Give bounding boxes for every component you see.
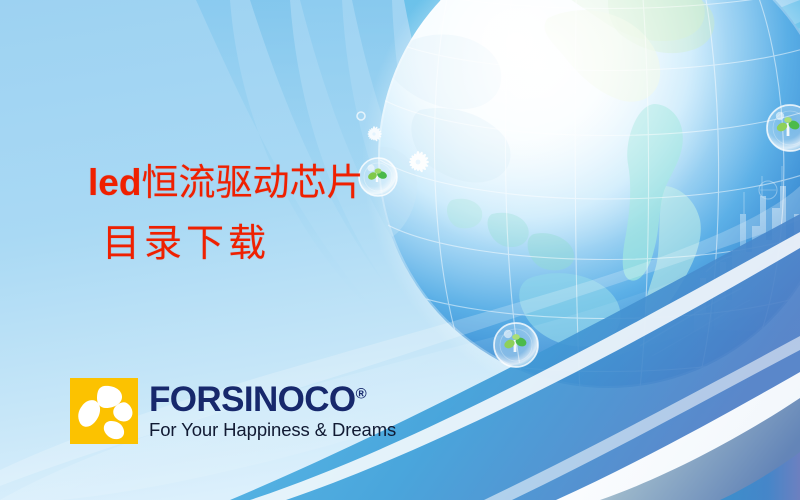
logo-tagline: For Your Happiness & Dreams (149, 421, 396, 440)
bubble-leaf-lower (494, 323, 538, 367)
logo-mark-icon (70, 378, 138, 444)
title-line-2: 目录下载 (102, 224, 363, 262)
logo-wordmark-text: FORSINOCO (149, 380, 356, 419)
title-han-text: 恒流驱动芯片 (141, 161, 363, 204)
bubble-leaf-center (359, 158, 397, 196)
title-latin-text: led (88, 162, 141, 203)
registered-trademark-symbol: ® (356, 386, 366, 403)
logo-text-block: FORSINOCO® For Your Happiness & Dreams (149, 382, 396, 440)
banner-title: led恒流驱动芯片 目录下载 (88, 164, 363, 262)
title-line-1: led恒流驱动芯片 (88, 164, 363, 201)
logo-wordmark: FORSINOCO® (149, 382, 396, 417)
company-logo[interactable]: FORSINOCO® For Your Happiness & Dreams (70, 378, 396, 444)
banner-canvas: led恒流驱动芯片 目录下载 FORSINOCO® For Your Happi… (0, 0, 800, 500)
